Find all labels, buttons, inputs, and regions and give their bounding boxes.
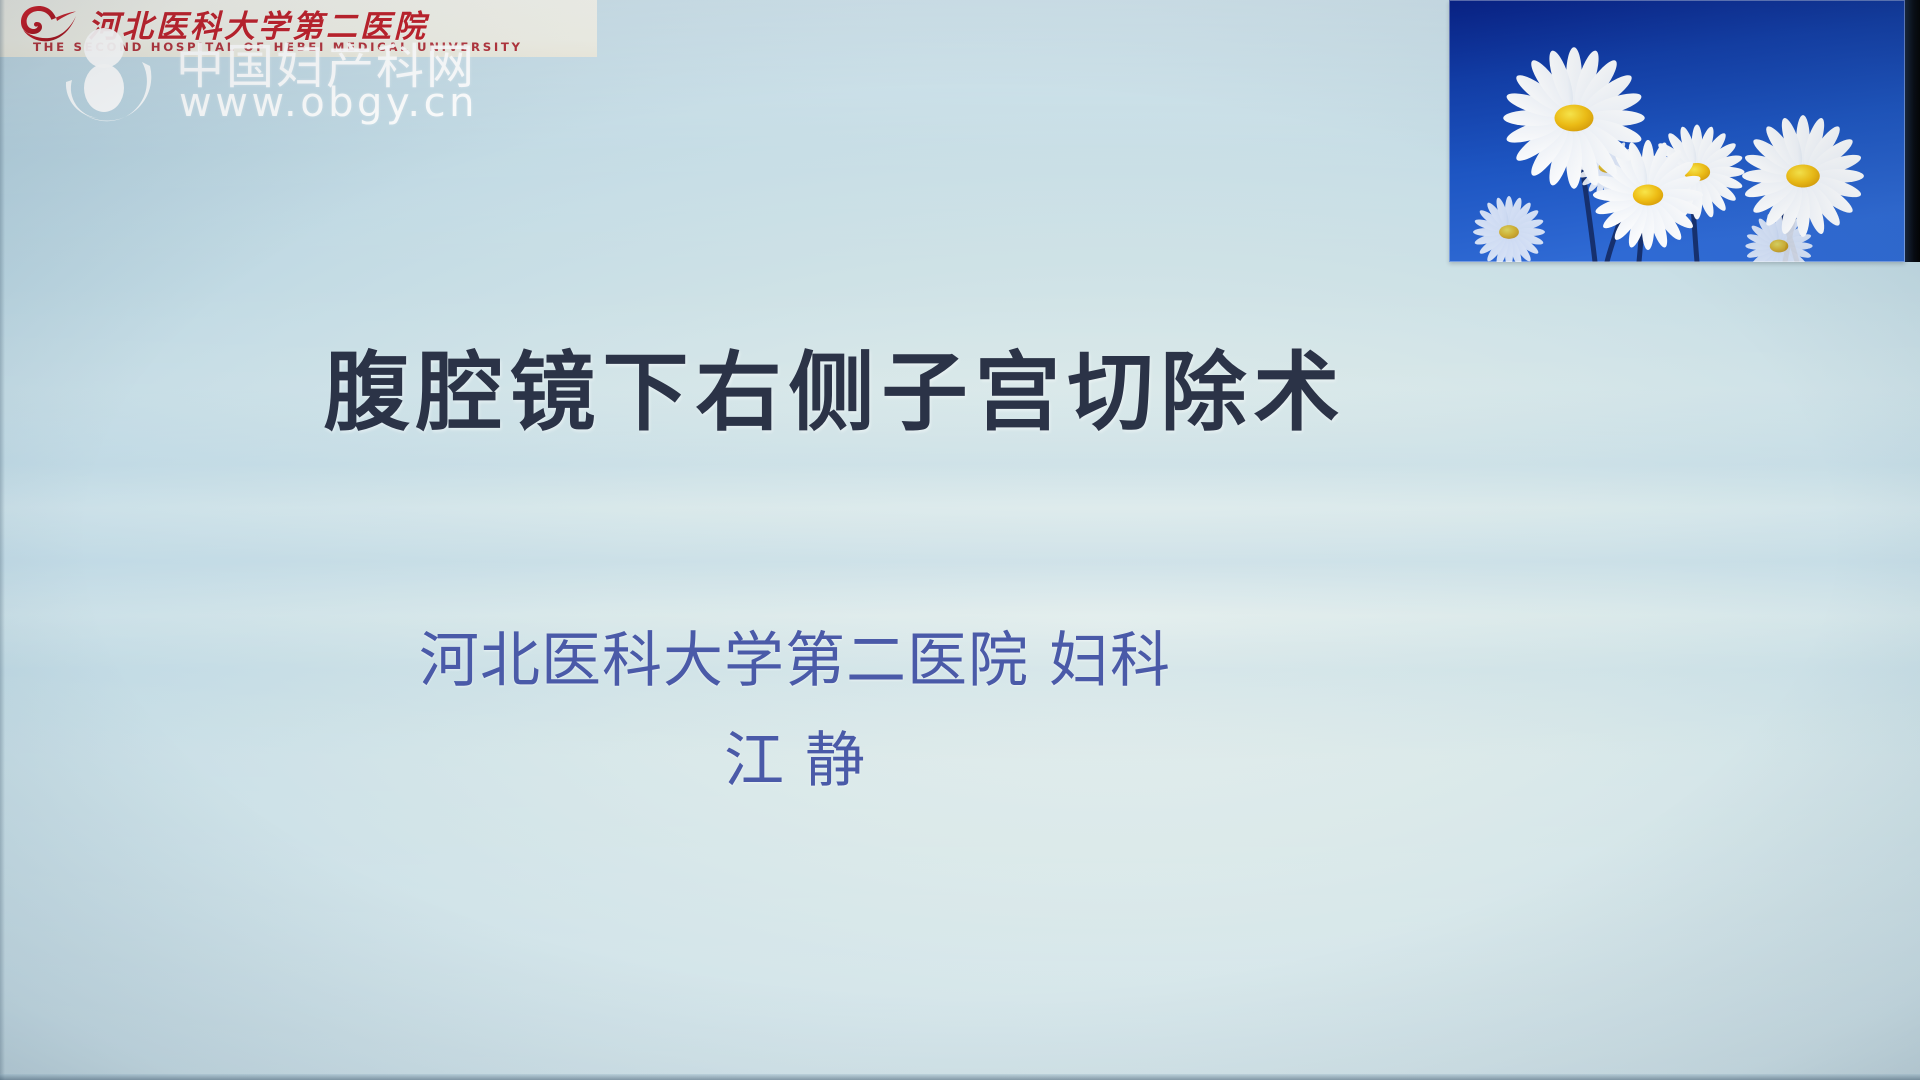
hospital-banner: 河北医科大学第二医院 THE SECOND HOSPITAL OF HEBEI … (0, 0, 597, 57)
bottom-edge-shade (0, 1074, 1920, 1080)
affiliation-text: 河北医科大学第二医院 妇科 (0, 612, 1590, 699)
left-edge-shade (0, 0, 5, 1080)
presentation-slide: 河北医科大学第二医院 THE SECOND HOSPITAL OF HEBEI … (0, 0, 1920, 1080)
hospital-swoosh-logo-icon (18, 3, 80, 45)
watermark-site-url: www.obgy.cn (179, 80, 478, 126)
hospital-name-english: THE SECOND HOSPITAL OF HEBEI MEDICAL UNI… (33, 40, 523, 54)
daisy-flowers-photo (1449, 0, 1905, 262)
presenter-name: 江 静 (0, 712, 1590, 799)
page-title: 腹腔镜下右侧子宫切除术 (0, 348, 1670, 438)
photo-right-edge-strip (1905, 0, 1920, 262)
